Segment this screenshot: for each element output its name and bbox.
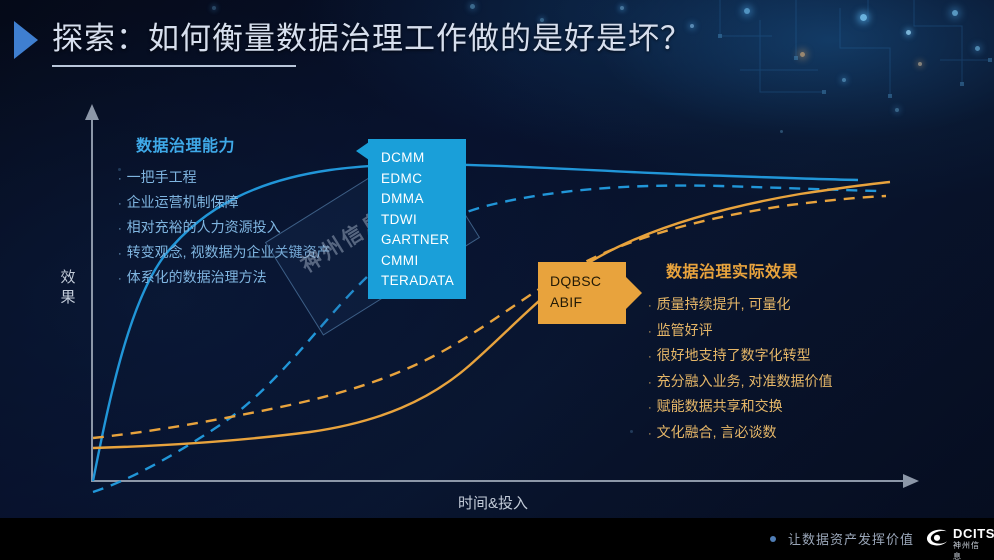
effect-block: 数据治理实际效果 ·质量持续提升, 可量化 ·监管好评 ·很好地支持了数字化转型…	[648, 258, 938, 446]
standard-item: DMMA	[368, 189, 466, 210]
standard-item: CMMI	[368, 251, 466, 272]
bullet-icon: ·	[118, 223, 122, 235]
effect-item: ·很好地支持了数字化转型	[648, 344, 938, 370]
effect-heading: 数据治理实际效果	[666, 258, 938, 282]
company-logo: DCITS 神州信息	[925, 525, 987, 553]
standards-box: DCMM EDMC DMMA TDWI GARTNER CMMI TERADAT…	[368, 139, 466, 299]
page-title: 探索：如何衡量数据治理工作做的是好是坏？	[14, 13, 874, 71]
standard-item: DCMM	[368, 139, 466, 169]
bullet-icon: ·	[118, 173, 122, 185]
capability-item: ·转变观念, 视数据为企业关键资产	[118, 241, 393, 266]
logo-name: DCITS	[953, 526, 994, 541]
y-axis-arrow-icon	[85, 104, 99, 120]
title-text: 探索：如何衡量数据治理工作做的是好是坏？	[52, 13, 692, 58]
footer-bar: 让数据资产发挥价值 DCITS 神州信息	[0, 518, 994, 560]
bullet-icon: ·	[648, 428, 652, 440]
y-axis	[91, 118, 93, 482]
bullet-icon: ·	[118, 198, 122, 210]
effect-item-label: 质量持续提升, 可量化	[657, 296, 791, 312]
capability-item-label: 体系化的数据治理方法	[127, 269, 267, 285]
capability-block: 数据治理能力 ·一把手工程 ·企业运营机制保障 ·相对充裕的人力资源投入 ·转变…	[118, 132, 393, 291]
capability-item-label: 一把手工程	[127, 169, 197, 185]
capability-item-label: 相对充裕的人力资源投入	[127, 219, 281, 235]
capability-item: ·体系化的数据治理方法	[118, 266, 393, 291]
capability-heading: 数据治理能力	[136, 132, 393, 156]
effect-item-label: 充分融入业务, 对准数据价值	[657, 373, 833, 389]
footer-slogan: 让数据资产发挥价值	[788, 529, 914, 548]
effect-item: ·监管好评	[648, 319, 938, 345]
footer-bullet-icon	[770, 536, 776, 542]
effect-item: ·充分融入业务, 对准数据价值	[648, 370, 938, 396]
standard-item: TERADATA	[368, 271, 466, 292]
effect-item-label: 监管好评	[657, 322, 713, 338]
metrics-box: DQBSC ABIF	[538, 262, 626, 324]
capability-item: ·企业运营机制保障	[118, 191, 393, 216]
standard-item: EDMC	[368, 169, 466, 190]
title-underline	[52, 65, 296, 67]
bullet-icon: ·	[648, 351, 652, 363]
x-axis-label: 时间&投入	[458, 492, 528, 513]
capability-item: ·一把手工程	[118, 166, 393, 191]
effect-item-label: 赋能数据共享和交换	[657, 398, 783, 414]
standard-item: TDWI	[368, 210, 466, 231]
effect-item-label: 很好地支持了数字化转型	[657, 347, 811, 363]
bullet-icon: ·	[648, 402, 652, 414]
metric-item: DQBSC	[538, 262, 626, 292]
bullet-icon: ·	[648, 377, 652, 389]
slide-canvas: 探索：如何衡量数据治理工作做的是好是坏？ 效果 时间&投入 数据治理能力 ·一把…	[0, 0, 994, 560]
metric-item: ABIF	[538, 292, 626, 313]
bullet-icon: ·	[648, 300, 652, 312]
capability-item: ·相对充裕的人力资源投入	[118, 216, 393, 241]
x-axis	[91, 480, 905, 482]
logo-subtitle: 神州信息	[953, 540, 987, 560]
capability-item-label: 企业运营机制保障	[127, 194, 239, 210]
effect-item: ·质量持续提升, 可量化	[648, 293, 938, 319]
effect-item: ·赋能数据共享和交换	[648, 395, 938, 421]
y-axis-label: 效果	[58, 268, 78, 308]
title-arrow-icon	[14, 21, 38, 59]
effect-item: ·文化融合, 言必谈数	[648, 421, 938, 447]
metrics-box-arrow-icon	[626, 277, 642, 309]
standard-item: GARTNER	[368, 230, 466, 251]
bullet-icon: ·	[648, 326, 652, 338]
effect-item-label: 文化融合, 言必谈数	[657, 424, 777, 440]
bullet-icon: ·	[118, 273, 122, 285]
capability-item-label: 转变观念, 视数据为企业关键资产	[127, 244, 331, 260]
x-axis-arrow-icon	[903, 474, 919, 488]
bullet-icon: ·	[118, 248, 122, 260]
swirl-logo-icon	[925, 528, 949, 549]
